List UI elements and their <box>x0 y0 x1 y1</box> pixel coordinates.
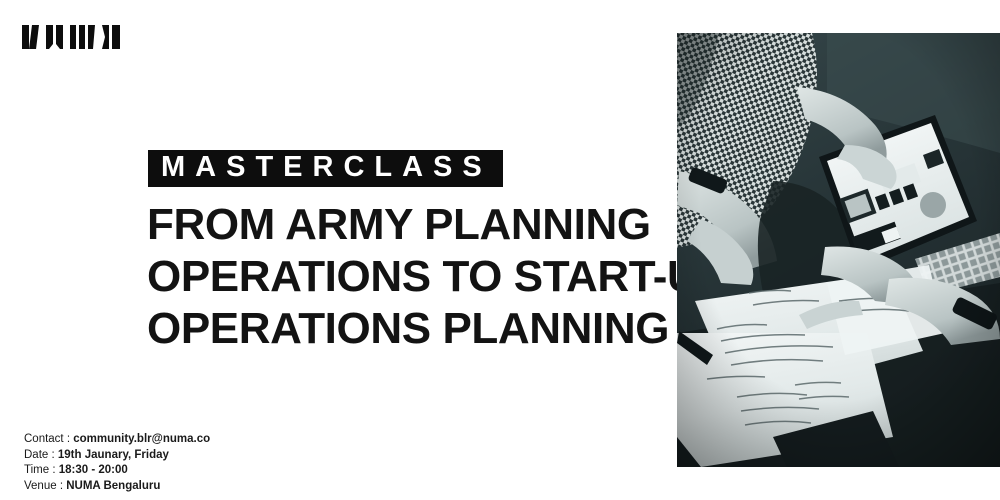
logo-glyph-u-left <box>46 25 53 49</box>
masterclass-label: MASTERCLASS <box>161 153 492 182</box>
headline-line-1: FROM ARMY PLANNING <box>147 199 687 251</box>
detail-contact: Contact : community.blr@numa.co <box>24 432 354 448</box>
headline-line-3: OPERATIONS PLANNING <box>147 303 687 355</box>
event-photo <box>677 33 1000 467</box>
detail-time-label: Time : <box>24 464 56 476</box>
photo-vignette <box>677 33 1000 467</box>
logo-glyph-u-right <box>56 25 63 49</box>
logo-glyph-m-right <box>88 25 95 49</box>
detail-contact-value[interactable]: community.blr@numa.co <box>73 433 210 445</box>
page-title: FROM ARMY PLANNING OPERATIONS TO START-U… <box>147 199 687 355</box>
detail-time: Time : 18:30 - 20:00 <box>24 463 354 479</box>
detail-venue-value: NUMA Bengaluru <box>66 480 160 492</box>
detail-venue: Venue : NUMA Bengaluru <box>24 479 354 495</box>
logo-glyph-m-left <box>70 25 76 49</box>
logo-glyph-n-left <box>22 25 29 49</box>
detail-date: Date : 19th Jaunary, Friday <box>24 448 354 464</box>
logo-glyph-n-right <box>29 25 39 49</box>
detail-contact-label: Contact : <box>24 433 70 445</box>
detail-time-value: 18:30 - 20:00 <box>59 464 128 476</box>
masterclass-banner: MASTERCLASS <box>148 150 503 187</box>
logo-glyph-a-right <box>112 25 120 49</box>
detail-venue-label: Venue : <box>24 480 63 492</box>
detail-date-label: Date : <box>24 449 55 461</box>
logo-glyph-a-left <box>102 25 109 49</box>
event-poster: MASTERCLASS FROM ARMY PLANNING OPERATION… <box>0 0 1000 500</box>
logo-glyph-m-mid <box>79 25 85 49</box>
event-details: Contact : community.blr@numa.co Date : 1… <box>24 432 354 494</box>
headline-line-2: OPERATIONS TO START-UPS <box>147 251 687 303</box>
detail-date-value: 19th Jaunary, Friday <box>58 449 169 461</box>
